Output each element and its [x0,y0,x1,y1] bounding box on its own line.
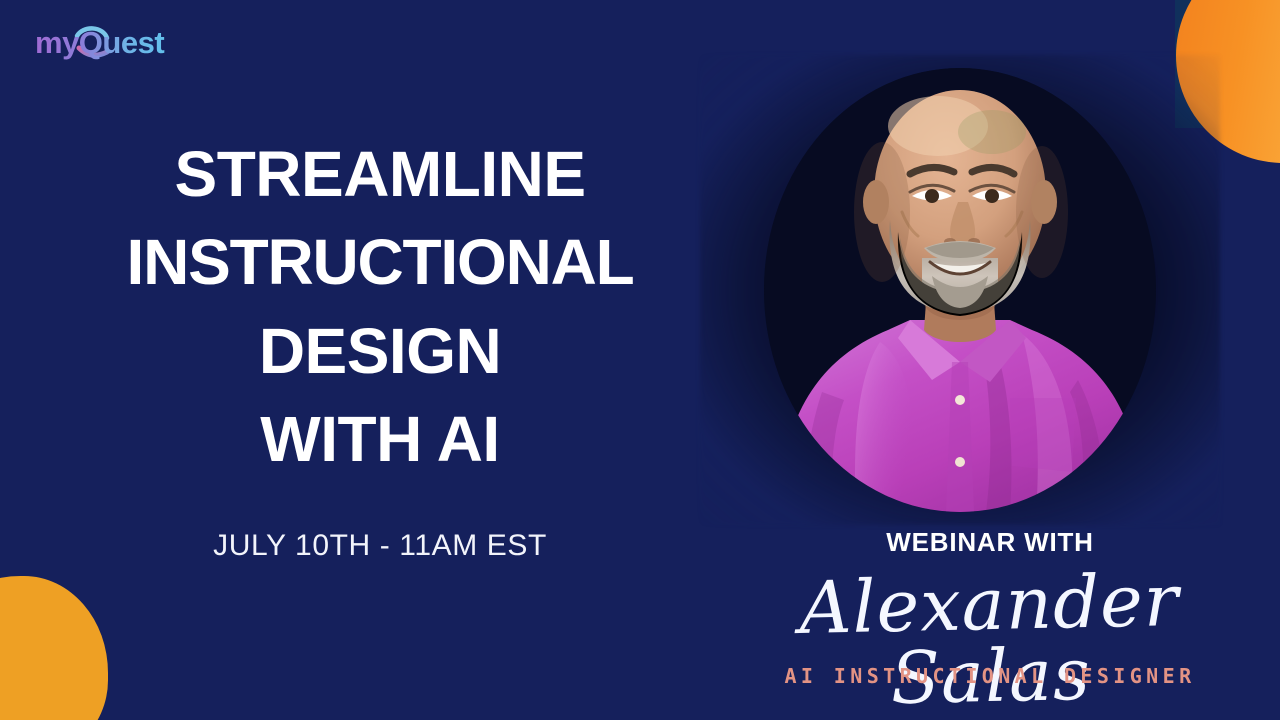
event-datetime: JULY 10TH - 11AM EST [60,529,700,563]
headline-line-3: DESIGN [60,307,700,395]
headline-block: STREAMLINE INSTRUCTIONAL DESIGN WITH AI … [60,130,700,563]
webinar-with-label: WEBINAR WITH [700,527,1280,558]
page-title: STREAMLINE INSTRUCTIONAL DESIGN WITH AI [60,130,700,483]
svg-text:myQuest: myQuest [35,25,164,60]
headline-line-2: INSTRUCTIONAL [60,218,700,306]
webinar-promo-poster: myQuest STREAMLINE INSTRUCTIONAL DESIGN … [0,0,1280,720]
myquest-logo[interactable]: myQuest [35,22,195,64]
speaker-block: WEBINAR WITH Alexander Salas AI INSTRUCT… [700,0,1280,720]
headline-line-4: WITH AI [60,395,700,483]
bottom-left-orange-blob [0,576,108,720]
speaker-role: AI INSTRUCTIONAL DESIGNER [700,664,1280,688]
headline-line-1: STREAMLINE [60,130,700,218]
speaker-name: Alexander Salas [699,562,1280,718]
speaker-photo [760,62,1160,512]
